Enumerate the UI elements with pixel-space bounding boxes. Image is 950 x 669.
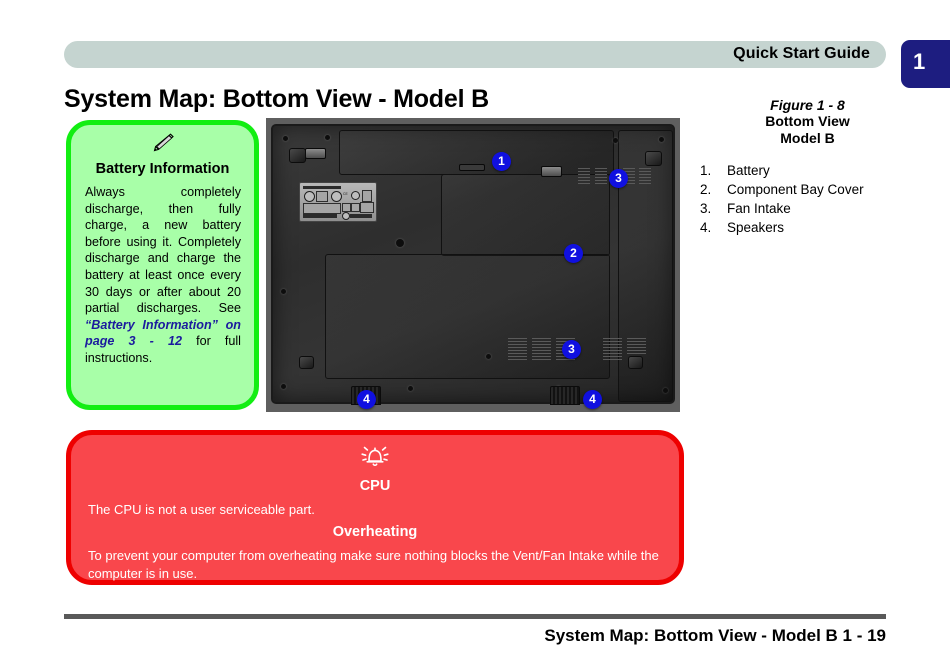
note-body: Always completely discharge, then fully … (85, 184, 241, 367)
warning-text-cpu: The CPU is not a user serviceable part. (88, 501, 315, 518)
legend-label: Speakers (727, 218, 915, 237)
screw (281, 289, 286, 294)
screw (283, 136, 288, 141)
battery-latch-left (305, 148, 326, 159)
warning-text-overheating: To prevent your computer from overheatin… (88, 547, 662, 583)
figure-name-line1: Bottom View (700, 113, 915, 130)
note-title: Battery Information (71, 161, 254, 177)
header-title: Quick Start Guide (733, 45, 870, 63)
callout-badge-3-upper: 3 (609, 169, 628, 188)
list-item: 1. Battery (700, 161, 915, 180)
fan-intake-vent (603, 338, 622, 360)
component-bay-cover-panel (325, 254, 610, 379)
legend-number: 4. (700, 218, 727, 237)
callout-badge-2: 2 (564, 244, 583, 263)
warning-heading-cpu: CPU (71, 478, 679, 494)
screw (281, 384, 286, 389)
figure-name-line2: Model B (700, 130, 915, 147)
laptop-chassis: CE 1 3 2 3 4 4 (271, 124, 675, 404)
battery-release-notch (459, 164, 485, 171)
header-bar: Quick Start Guide (64, 41, 886, 68)
screw (408, 386, 413, 391)
figure-number: Figure 1 - 8 (700, 97, 915, 113)
fan-intake-vent (595, 168, 607, 184)
figure-caption-block: Figure 1 - 8 Bottom View Model B 1. Batt… (700, 97, 915, 237)
legend-label: Fan Intake (727, 199, 915, 218)
fan-intake-vent (639, 168, 651, 184)
legend-number: 1. (700, 161, 727, 180)
pen-icon (71, 131, 254, 157)
note-body-part1: Always completely discharge, then fully … (85, 185, 241, 315)
laptop-bottom-view-photo: CE 1 3 2 3 4 4 (266, 118, 680, 412)
footer-text: System Map: Bottom View - Model B 1 - 19 (544, 626, 886, 646)
callout-badge-1: 1 (492, 152, 511, 171)
fan-intake-vent (508, 338, 527, 360)
rubber-foot-bottom-right (628, 356, 643, 369)
screw (663, 388, 668, 393)
rubber-foot-bottom-left (299, 356, 314, 369)
battery-latch-right (541, 166, 562, 177)
legend-label: Battery (727, 161, 915, 180)
legend-number: 2. (700, 180, 727, 199)
screw (325, 135, 330, 140)
screw (659, 137, 664, 142)
figure-legend-list: 1. Battery 2. Component Bay Cover 3. Fan… (700, 161, 915, 237)
regulatory-label-sticker: CE (299, 182, 377, 222)
speaker-right (550, 386, 580, 405)
rubber-foot-top-right (645, 151, 662, 166)
chapter-tab-number: 1 (913, 49, 925, 75)
alarm-bell-icon (71, 441, 679, 473)
legend-label: Component Bay Cover (727, 180, 915, 199)
screw (613, 138, 618, 143)
screw (396, 239, 404, 247)
fan-intake-vent (627, 338, 646, 354)
legend-number: 3. (700, 199, 727, 218)
cpu-overheating-warning: CPU The CPU is not a user serviceable pa… (66, 430, 684, 585)
fan-intake-vent (532, 338, 551, 360)
callout-badge-3-lower: 3 (562, 340, 581, 359)
battery-information-note: Battery Information Always completely di… (66, 120, 259, 410)
chapter-tab: 1 (901, 40, 950, 88)
list-item: 4. Speakers (700, 218, 915, 237)
list-item: 2. Component Bay Cover (700, 180, 915, 199)
page-title: System Map: Bottom View - Model B (64, 85, 489, 114)
callout-badge-4-right: 4 (583, 390, 602, 409)
footer-divider (64, 614, 886, 619)
screw (486, 354, 491, 359)
rubber-foot-top-left (289, 148, 306, 163)
bay-upper-section (441, 174, 610, 256)
fan-intake-vent (578, 168, 590, 184)
callout-badge-4-left: 4 (357, 390, 376, 409)
list-item: 3. Fan Intake (700, 199, 915, 218)
warning-heading-overheating: Overheating (71, 524, 679, 540)
document-page: Quick Start Guide 1 System Map: Bottom V… (0, 0, 950, 669)
